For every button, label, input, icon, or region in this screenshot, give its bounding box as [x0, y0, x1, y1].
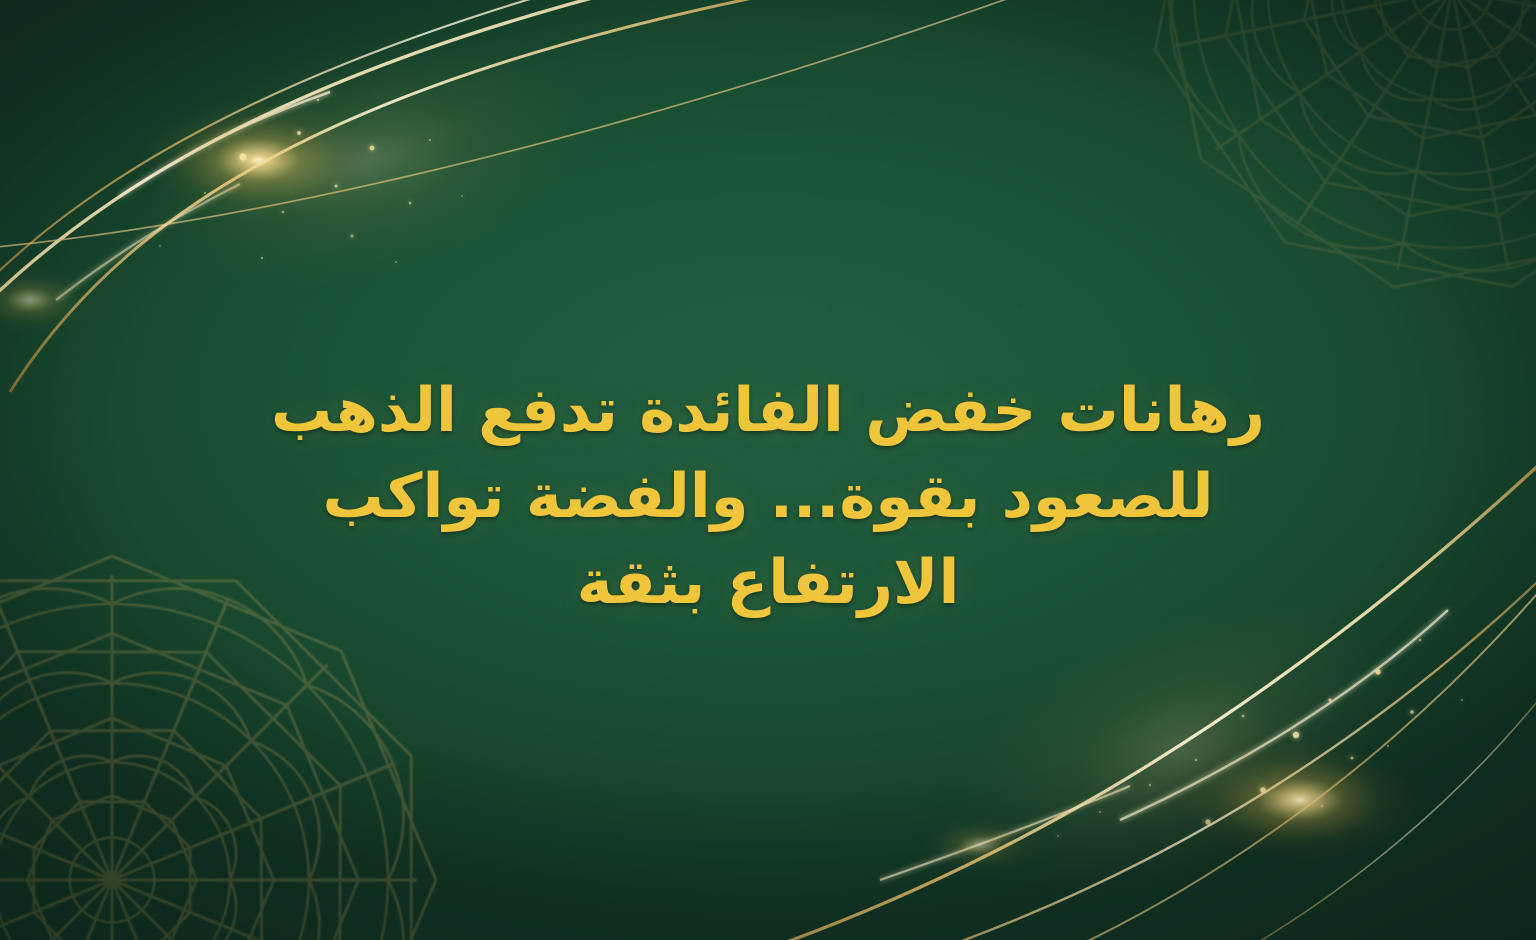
headline: رهانات خفض الفائدة تدفع الذهب للصعود بقو… [0, 368, 1536, 626]
headline-line-2: للصعود بقوة... والفضة تواكب [0, 454, 1536, 540]
swoosh-top-left [0, 0, 1060, 392]
banner-canvas: رهانات خفض الفائدة تدفع الذهب للصعود بقو… [0, 0, 1536, 940]
headline-line-3: الارتفاع بثقة [0, 540, 1536, 626]
headline-line-1: رهانات خفض الفائدة تدفع الذهب [0, 368, 1536, 454]
